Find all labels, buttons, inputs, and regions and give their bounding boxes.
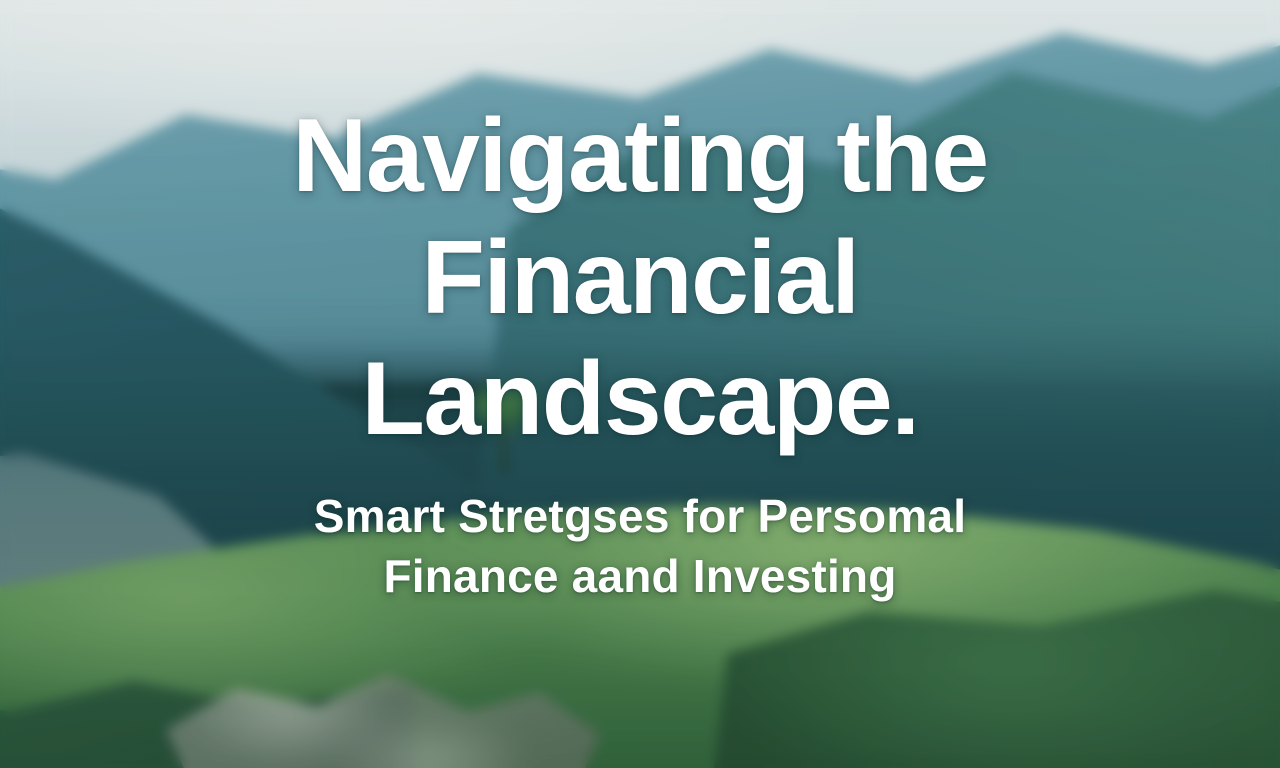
headline-line-3: Landscape.	[0, 339, 1280, 461]
subheadline-line-1: Smart Stretgses for Persomal	[0, 487, 1280, 547]
headline-line-1: Navigating the	[0, 96, 1280, 218]
page-title: Navigating the Financial Landscape.	[0, 96, 1280, 461]
text-content-block: Navigating the Financial Landscape. Smar…	[0, 0, 1280, 768]
page-subtitle: Smart Stretgses for Persomal Finance aan…	[0, 487, 1280, 607]
poster-canvas: Navigating the Financial Landscape. Smar…	[0, 0, 1280, 768]
headline-line-2: Financial	[0, 218, 1280, 340]
subheadline-line-2: Finance aand Investing	[0, 547, 1280, 607]
